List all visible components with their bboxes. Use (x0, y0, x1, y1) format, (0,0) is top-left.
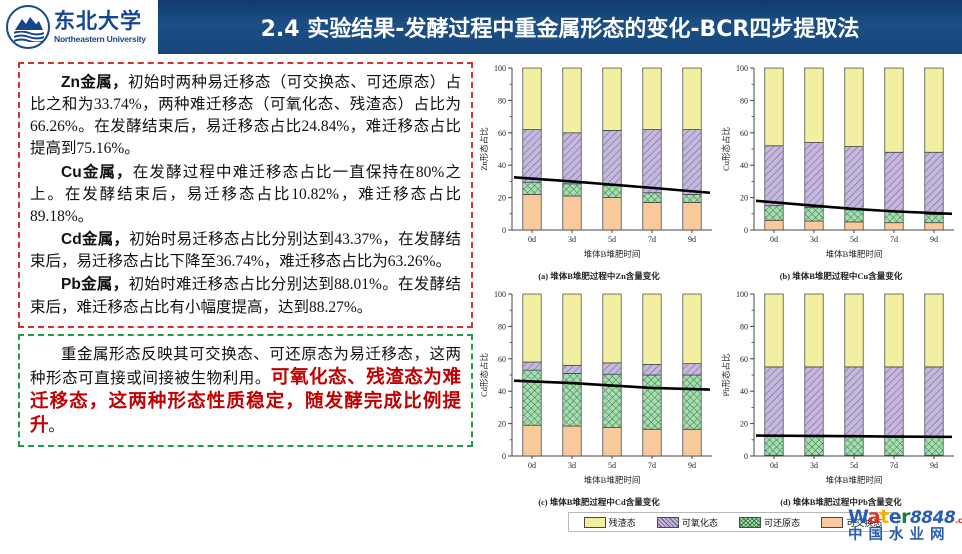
svg-text:100: 100 (494, 64, 506, 73)
logo-name-en: Northeastern University (54, 34, 146, 44)
svg-text:80: 80 (740, 322, 748, 331)
bar-segment (643, 68, 661, 130)
bar-segment (885, 437, 903, 456)
bar-segment (683, 375, 701, 429)
bar-segment (885, 367, 903, 437)
svg-text:0d: 0d (528, 461, 536, 470)
bar-segment (523, 68, 541, 130)
legend-label-reducible: 可还原态 (764, 516, 800, 529)
bar-segment (643, 130, 661, 193)
bar-segment (925, 367, 943, 437)
wm-letter-1: a (868, 506, 880, 528)
svg-text:3d: 3d (810, 235, 818, 244)
bar-segment (925, 68, 943, 152)
paragraph-cd: Cd金属，初始时易迁移态占比分别达到43.37%，在发酵结束后，易迁移态占比下降… (30, 229, 461, 273)
bar-segment (765, 220, 783, 230)
conclusion-box: 重金属形态反映其可交换态、可还原态为易迁移态，这两种形态可直接或间接被生物利用。… (18, 334, 473, 448)
bar-segment (805, 207, 823, 221)
page-title: 2.4 实验结果-发酵过程中重金属形态的变化-BCR四步提取法 (261, 11, 860, 43)
watermark-wordmark: Water8848.com (848, 508, 960, 527)
bar-segment (683, 130, 701, 195)
legend-label-residual: 残渣态 (609, 516, 636, 529)
bar-segment (563, 426, 581, 456)
bar-segment (805, 367, 823, 437)
bar-segment (563, 184, 581, 196)
bar-segment (523, 370, 541, 425)
svg-text:7d: 7d (890, 461, 898, 470)
chart-zn: 0204060801000d3d5d7d9dZn形态占比堆体B堆肥时间(a) 堆… (478, 58, 720, 284)
bar-segment (603, 185, 621, 197)
paragraph-pb-lead: Pb金属， (61, 276, 129, 293)
left-text-column: Zn金属，初始时两种易迁移态（可交换态、可还原态）占比之和为33.74%，两种难… (18, 62, 473, 542)
bar-segment (845, 147, 863, 210)
svg-text:60: 60 (740, 129, 748, 138)
bar-segment (683, 194, 701, 202)
svg-text:3d: 3d (568, 235, 576, 244)
chart-svg-b: 0204060801000d3d5d7d9dCu形态占比堆体B堆肥时间 (720, 58, 962, 284)
x-axis-label: 堆体B堆肥时间 (584, 475, 641, 485)
chart-caption: (a) 堆体B堆肥过程中Zn含量变化 (478, 270, 720, 282)
bar-segment (683, 429, 701, 456)
x-axis-label: 堆体B堆肥时间 (826, 475, 883, 485)
bar-segment (925, 152, 943, 214)
bar-segment (603, 374, 621, 427)
legend-item-0: 残渣态 (584, 516, 636, 529)
svg-text:80: 80 (498, 322, 506, 331)
svg-text:40: 40 (740, 387, 748, 396)
bar-segment (925, 294, 943, 367)
trend-line (756, 436, 952, 437)
charts-grid: 0204060801000d3d5d7d9dZn形态占比堆体B堆肥时间(a) 堆… (478, 58, 962, 510)
bar-segment (845, 210, 863, 222)
bar-segment (563, 196, 581, 230)
chart-svg-d: 0204060801000d3d5d7d9dPb形态占比堆体B堆肥时间 (720, 284, 962, 510)
y-axis-label: Cd形态占比 (479, 353, 489, 397)
y-axis-label: Zn形态占比 (479, 127, 489, 170)
bar-segment (683, 68, 701, 130)
svg-text:7d: 7d (648, 235, 656, 244)
svg-text:40: 40 (740, 161, 748, 170)
svg-text:60: 60 (498, 129, 506, 138)
bar-segment (563, 373, 581, 426)
legend-swatch-reducible (739, 517, 761, 528)
svg-text:7d: 7d (890, 235, 898, 244)
svg-text:0: 0 (502, 226, 506, 235)
svg-text:3d: 3d (568, 461, 576, 470)
paragraph-zn-lead: Zn金属， (61, 74, 128, 91)
svg-text:20: 20 (740, 420, 748, 429)
bar-segment (563, 133, 581, 184)
bar-segment (683, 294, 701, 364)
svg-text:0: 0 (744, 452, 748, 461)
bar-segment (523, 362, 541, 370)
bar-segment (845, 222, 863, 230)
legend-swatch-residual (584, 517, 606, 528)
svg-text:80: 80 (740, 96, 748, 105)
chart-svg-a: 0204060801000d3d5d7d9dZn形态占比堆体B堆肥时间 (478, 58, 720, 284)
svg-text:60: 60 (740, 355, 748, 364)
bar-segment (925, 215, 943, 223)
chart-svg-c: 0204060801000d3d5d7d9dCd形态占比堆体B堆肥时间 (478, 284, 720, 510)
bar-segment (643, 375, 661, 429)
bar-segment (523, 194, 541, 230)
bar-segment (563, 365, 581, 373)
bar-segment (523, 130, 541, 183)
chart-caption: (b) 堆体B堆肥过程中Cu含量变化 (720, 270, 962, 282)
bar-segment (765, 206, 783, 221)
bar-segment (603, 130, 621, 185)
chart-pb: 0204060801000d3d5d7d9dPb形态占比堆体B堆肥时间(d) 堆… (720, 284, 962, 510)
bars-group (765, 294, 943, 456)
bar-segment (805, 68, 823, 143)
legend-swatch-oxidizable (657, 517, 679, 528)
bar-segment (765, 437, 783, 456)
bar-segment (563, 68, 581, 133)
paragraph-cu-lead: Cu金属， (61, 164, 133, 181)
legend-item-2: 可还原态 (739, 516, 800, 529)
bar-segment (885, 223, 903, 230)
bar-segment (643, 294, 661, 364)
svg-text:5d: 5d (850, 461, 858, 470)
bar-segment (925, 437, 943, 455)
legend-label-oxidizable: 可氧化态 (682, 516, 718, 529)
paragraph-cu: Cu金属，在发酵过程中难迁移态占比一直保持在80%之上。在发酵结束后，易迁移态占… (30, 162, 461, 228)
bar-segment (523, 182, 541, 194)
bar-segment (603, 294, 621, 363)
svg-text:9d: 9d (688, 235, 696, 244)
mountain-icon (15, 17, 43, 30)
bars-group (765, 68, 943, 230)
svg-text:5d: 5d (608, 235, 616, 244)
svg-text:9d: 9d (688, 461, 696, 470)
wm-letter-3: e (889, 506, 901, 528)
paragraph-zn: Zn金属，初始时两种易迁移态（可交换态、可还原态）占比之和为33.74%，两种难… (30, 72, 461, 161)
svg-text:9d: 9d (930, 235, 938, 244)
chart-cd: 0204060801000d3d5d7d9dCd形态占比堆体B堆肥时间(c) 堆… (478, 284, 720, 510)
bar-segment (845, 437, 863, 456)
wm-letter-2: t (880, 506, 889, 528)
bar-segment (603, 428, 621, 456)
svg-text:7d: 7d (648, 461, 656, 470)
wm-number: 8848 (910, 508, 955, 528)
svg-text:80: 80 (498, 96, 506, 105)
x-axis-label: 堆体B堆肥时间 (826, 249, 883, 259)
svg-text:9d: 9d (930, 461, 938, 470)
bar-segment (885, 211, 903, 222)
slide-header: 东北大学 Northeastern University 2.4 实验结果-发酵… (0, 0, 962, 54)
bar-segment (643, 193, 661, 203)
bar-segment (765, 68, 783, 146)
svg-text:100: 100 (494, 290, 506, 299)
svg-text:0d: 0d (770, 235, 778, 244)
wm-domain: .com (955, 516, 962, 525)
y-axis-label: Cu形态占比 (721, 127, 731, 171)
svg-text:0d: 0d (770, 461, 778, 470)
bar-segment (603, 363, 621, 374)
bar-segment (603, 198, 621, 230)
svg-text:100: 100 (736, 64, 748, 73)
bar-segment (925, 223, 943, 230)
logo-name-cn: 东北大学 (54, 10, 146, 32)
svg-text:0: 0 (502, 452, 506, 461)
university-logo: 东北大学 Northeastern University (0, 0, 158, 54)
bar-segment (885, 294, 903, 367)
x-axis-label: 堆体B堆肥时间 (584, 249, 641, 259)
svg-text:40: 40 (498, 161, 506, 170)
wave-icon (14, 31, 44, 42)
bar-segment (643, 202, 661, 230)
bar-segment (683, 202, 701, 230)
bar-segment (805, 437, 823, 456)
university-emblem-icon (6, 5, 50, 49)
logo-text: 东北大学 Northeastern University (54, 10, 146, 43)
svg-text:20: 20 (740, 194, 748, 203)
svg-text:20: 20 (498, 420, 506, 429)
bar-segment (563, 294, 581, 365)
wm-letter-0: W (848, 506, 868, 528)
svg-text:60: 60 (498, 355, 506, 364)
slide-root: 东北大学 Northeastern University 2.4 实验结果-发酵… (0, 0, 962, 554)
bar-segment (643, 364, 661, 375)
conclusion-tail: 。 (49, 418, 65, 435)
bar-segment (805, 294, 823, 367)
bar-segment (603, 68, 621, 130)
chart-caption: (d) 堆体B堆肥过程中Pb含量变化 (720, 496, 962, 508)
bar-segment (845, 367, 863, 437)
svg-text:20: 20 (498, 194, 506, 203)
charts-panel: 0204060801000d3d5d7d9dZn形态占比堆体B堆肥时间(a) 堆… (478, 58, 962, 554)
bar-segment (805, 221, 823, 230)
conclusion-paragraph: 重金属形态反映其可交换态、可还原态为易迁移态，这两种形态可直接或间接被生物利用。… (30, 344, 461, 439)
bars-group (523, 294, 701, 456)
bar-segment (845, 68, 863, 147)
title-bar: 2.4 实验结果-发酵过程中重金属形态的变化-BCR四步提取法 (158, 0, 962, 54)
svg-text:5d: 5d (608, 461, 616, 470)
bar-segment (765, 367, 783, 437)
bar-segment (885, 68, 903, 152)
svg-text:100: 100 (736, 290, 748, 299)
bar-segment (523, 425, 541, 456)
bar-segment (805, 143, 823, 208)
wm-letter-4: r (901, 506, 910, 528)
legend-swatch-exchangeable (821, 517, 843, 528)
bar-segment (643, 429, 661, 456)
svg-text:3d: 3d (810, 461, 818, 470)
bar-segment (765, 146, 783, 206)
bar-segment (885, 152, 903, 211)
bar-segment (523, 294, 541, 362)
svg-text:5d: 5d (850, 235, 858, 244)
watermark-cn: 中国水业网 (848, 528, 960, 544)
legend-item-1: 可氧化态 (657, 516, 718, 529)
metal-summary-box: Zn金属，初始时两种易迁移态（可交换态、可还原态）占比之和为33.74%，两种难… (18, 62, 473, 328)
paragraph-pb: Pb金属，初始时难迁移态占比分别达到88.01%。在发酵结束后，难迁移态占比有小… (30, 274, 461, 318)
chart-cu: 0204060801000d3d5d7d9dCu形态占比堆体B堆肥时间(b) 堆… (720, 58, 962, 284)
y-axis-label: Pb形态占比 (721, 354, 731, 397)
svg-text:0: 0 (744, 226, 748, 235)
bar-segment (765, 294, 783, 367)
bars-group (523, 68, 701, 230)
bar-segment (683, 364, 701, 375)
bar-segment (845, 294, 863, 367)
watermark: Water8848.com 中国水业网 (848, 508, 960, 552)
paragraph-cd-lead: Cd金属， (61, 231, 129, 248)
chart-caption: (c) 堆体B堆肥过程中Cd含量变化 (478, 496, 720, 508)
svg-text:0d: 0d (528, 235, 536, 244)
svg-text:40: 40 (498, 387, 506, 396)
